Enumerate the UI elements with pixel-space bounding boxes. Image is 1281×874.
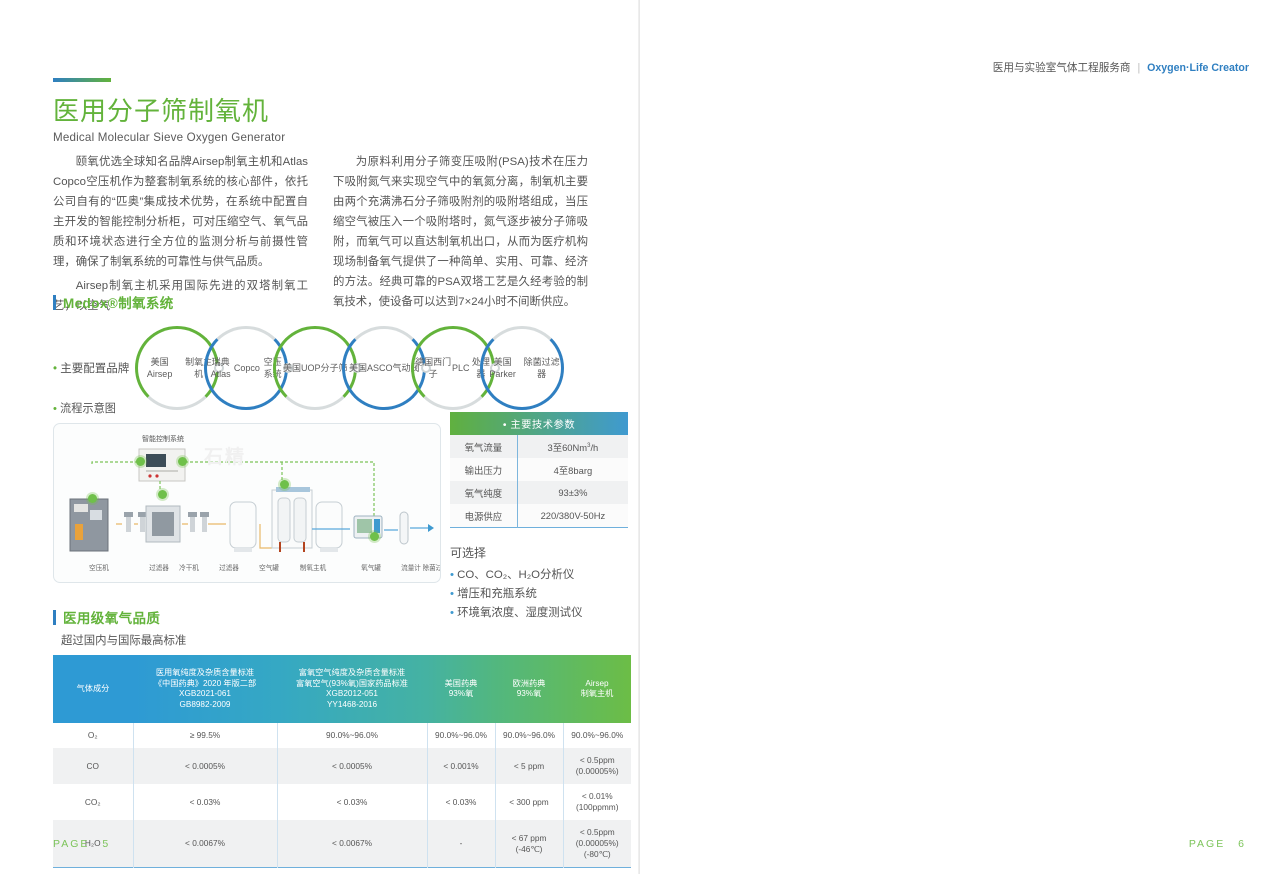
table-row: CO< 0.0005%< 0.0005%< 0.001%< 5 ppm< 0.5… xyxy=(53,748,631,784)
table-row: H₂O< 0.0067%< 0.0067%-< 67 ppm(-46℃)< 0.… xyxy=(53,820,631,868)
header-tagline: 医用与实验室气体工程服务商 xyxy=(993,62,1131,74)
brand-row: • 主要配置品牌 美国Airsep制氧主机瑞典AtlasCopco空压系统美国U… xyxy=(53,326,593,410)
brand-ring-label: 美国Airsep xyxy=(138,356,181,380)
gas-quality-column-header: 美国药典93%氧 xyxy=(427,655,495,723)
signal-node-icon xyxy=(280,480,289,489)
spec-row: 氧气纯度93±3% xyxy=(450,481,628,504)
header-separator: | xyxy=(1137,62,1140,74)
flow-label: • 流程示意图 xyxy=(53,400,443,416)
brand-ring-label: 瑞典Atlas xyxy=(207,356,234,380)
brand-section-title: Medox®制氧系统 xyxy=(53,292,593,312)
flow-section: • 流程示意图 石精 智能 xyxy=(53,400,443,583)
intro-paragraph-3: 为原料利用分子筛变压吸附(PSA)技术在压力下吸附氮气来实现空气中的氧氮分离，制… xyxy=(333,152,588,312)
brand-ring-label: 美国Parker xyxy=(483,356,522,380)
gas-component: CO₂ xyxy=(53,784,133,820)
table-row: CO₂< 0.03%< 0.03%< 0.03%< 300 ppm< 0.01%… xyxy=(53,784,631,820)
gas-quality-table: 气体成分医用氧纯度及杂质含量标准《中国药典》2020 年版二部XGB2021-0… xyxy=(53,655,631,868)
gas-quality-cell: < 0.5ppm(0.00005%)(-80℃) xyxy=(563,820,631,868)
brand-label-text: 主要配置品牌 xyxy=(60,363,129,375)
gas-quality-column-header: Airsep制氧主机 xyxy=(563,655,631,723)
spec-row: 氧气流量3至60Nm3/h xyxy=(450,435,628,458)
gas-component: O₂ xyxy=(53,723,133,748)
brand-ring-6: 美国Parker除菌过滤器 xyxy=(480,326,564,410)
bullet-icon: • xyxy=(53,363,57,375)
spec-value: 3至60Nm3/h xyxy=(517,435,628,458)
header-brand: Oxygen·Life Creator xyxy=(1147,62,1249,74)
gas-quality-cell: < 0.03% xyxy=(427,784,495,820)
title-tick-icon xyxy=(53,610,56,625)
signal-node-icon xyxy=(178,457,187,466)
brand-ring-label: 德国西门子 xyxy=(414,356,452,380)
flow-item-label: 制氧主机 xyxy=(287,562,339,572)
gas-quality-cell: - xyxy=(427,820,495,868)
page-footer-right: PAGE 6 xyxy=(1189,838,1246,850)
title-tick-icon xyxy=(53,295,56,310)
page-number: 5 xyxy=(102,838,110,850)
signal-node-icon xyxy=(370,532,379,541)
spec-value: 93±3% xyxy=(517,481,628,504)
signal-node-icon xyxy=(88,494,97,503)
brand-ring-label: Copco xyxy=(234,362,260,374)
gas-quality-title-text: 医用级氧气品质 xyxy=(63,607,160,627)
signal-node-icon xyxy=(136,457,145,466)
spec-table-title: 主要技术参数 xyxy=(510,420,575,431)
brochure-spread: 医用分子筛制氧机 Medical Molecular Sieve Oxygen … xyxy=(0,0,1281,874)
gas-quality-cell: < 0.03% xyxy=(133,784,277,820)
gas-quality-cell: < 0.0067% xyxy=(277,820,427,868)
gas-quality-column-header: 医用氧纯度及杂质含量标准《中国药典》2020 年版二部XGB2021-061GB… xyxy=(133,655,277,723)
brand-ring-label: 除菌过滤器 xyxy=(522,356,561,380)
gas-quality-cell: 90.0%~96.0% xyxy=(277,723,427,748)
control-system-label: 智能控制系统 xyxy=(132,434,194,444)
flow-diagram-graphics xyxy=(54,424,441,583)
spec-table-header: • 主要技术参数 xyxy=(450,412,628,435)
brand-ring-chain: 美国Airsep制氧主机瑞典AtlasCopco空压系统美国UOP分子筛美国AS… xyxy=(135,326,593,410)
left-page: 医用分子筛制氧机 Medical Molecular Sieve Oxygen … xyxy=(0,0,640,874)
page-subtitle: Medical Molecular Sieve Oxygen Generator xyxy=(53,131,285,144)
gas-quality-cell: < 0.03% xyxy=(277,784,427,820)
spec-key: 氧气纯度 xyxy=(450,481,517,504)
gas-quality-cell: 90.0%~96.0% xyxy=(563,723,631,748)
gas-quality-subtitle: 超过国内与国际最高标准 xyxy=(61,632,631,648)
gas-quality-column-header: 富氧空气纯度及杂质含量标准富氧空气(93%氧)国家药品标准XGB2012-051… xyxy=(277,655,427,723)
brand-ring-label: 美国ASCO xyxy=(349,362,393,374)
brand-label: • 主要配置品牌 xyxy=(53,360,129,376)
spec-value: 4至8barg xyxy=(517,458,628,481)
spec-table: 氧气流量3至60Nm3/h输出压力4至8barg氧气纯度93±3%电源供应220… xyxy=(450,435,628,528)
page-title: 医用分子筛制氧机 xyxy=(53,91,285,128)
gas-quality-cell: 90.0%~96.0% xyxy=(495,723,563,748)
page-number: 6 xyxy=(1238,838,1246,850)
gas-quality-cell: < 0.0005% xyxy=(133,748,277,784)
flow-item-label: 空压机 xyxy=(73,562,125,572)
gas-component: CO xyxy=(53,748,133,784)
right-page: 医用与实验室气体工程服务商 | Oxygen·Life Creator Medo… xyxy=(640,0,1281,874)
gas-quality-cell: < 0.0005% xyxy=(277,748,427,784)
gas-quality-column-header: 欧洲药典93%氧 xyxy=(495,655,563,723)
gas-quality-section: 医用级氧气品质 超过国内与国际最高标准 气体成分医用氧纯度及杂质含量标准《中国药… xyxy=(53,607,631,868)
brand-ring-label: 美国UOP xyxy=(283,362,321,374)
spec-value: 220/380V-50Hz xyxy=(517,504,628,528)
spec-key: 氧气流量 xyxy=(450,435,517,458)
optional-item: 增压和充瓶系统 xyxy=(450,585,628,604)
flow-item-label: 除菌过滤器 xyxy=(413,562,441,572)
spec-key: 电源供应 xyxy=(450,504,517,528)
gas-quality-cell: < 0.5ppm(0.00005%) xyxy=(563,748,631,784)
page-label: PAGE xyxy=(53,838,89,850)
gas-quality-cell: < 0.001% xyxy=(427,748,495,784)
gas-quality-cell: < 67 ppm(-46℃) xyxy=(495,820,563,868)
gas-quality-cell: < 5 ppm xyxy=(495,748,563,784)
page-footer-left: PAGE 5 xyxy=(53,838,110,850)
flow-diagram: 石精 智能控制系统空压机过滤器冷干机过滤器空气罐制氧主机氧气罐流量计除菌过滤器 xyxy=(53,423,441,583)
gas-quality-cell: < 0.0067% xyxy=(133,820,277,868)
gas-quality-title: 医用级氧气品质 xyxy=(53,607,631,627)
bullet-icon: • xyxy=(53,403,57,415)
flow-label-text: 流程示意图 xyxy=(60,403,116,415)
optional-item: CO、CO₂、H₂O分析仪 xyxy=(450,566,628,585)
spec-row: 输出压力4至8barg xyxy=(450,458,628,481)
gas-quality-column-header: 气体成分 xyxy=(53,655,133,723)
left-page-header: 医用分子筛制氧机 Medical Molecular Sieve Oxygen … xyxy=(53,78,285,144)
table-row: O₂≥ 99.5%90.0%~96.0%90.0%~96.0%90.0%~96.… xyxy=(53,723,631,748)
gas-quality-cell: 90.0%~96.0% xyxy=(427,723,495,748)
optional-title: 可选择 xyxy=(450,544,628,561)
spec-key: 输出压力 xyxy=(450,458,517,481)
brand-ring-label: PLC xyxy=(452,362,470,374)
gas-quality-cell: ≥ 99.5% xyxy=(133,723,277,748)
spec-row: 电源供应220/380V-50Hz xyxy=(450,504,628,528)
brand-section: Medox®制氧系统 • 主要配置品牌 美国Airsep制氧主机瑞典AtlasC… xyxy=(53,292,593,410)
accent-bar xyxy=(53,78,111,82)
bullet-icon: • xyxy=(503,420,507,431)
page-label: PAGE xyxy=(1189,838,1225,850)
brand-section-title-text: Medox®制氧系统 xyxy=(63,292,174,312)
header-brandline: 医用与实验室气体工程服务商 | Oxygen·Life Creator xyxy=(993,60,1249,75)
signal-node-icon xyxy=(158,490,167,499)
spec-section: • 主要技术参数 氧气流量3至60Nm3/h输出压力4至8barg氧气纯度93±… xyxy=(450,412,628,623)
gas-quality-cell: < 0.01%(100ppmm) xyxy=(563,784,631,820)
gas-quality-cell: < 300 ppm xyxy=(495,784,563,820)
intro-paragraph-1: 颐氧优选全球知名品牌Airsep制氧主机和Atlas Copco空压机作为整套制… xyxy=(53,152,308,272)
